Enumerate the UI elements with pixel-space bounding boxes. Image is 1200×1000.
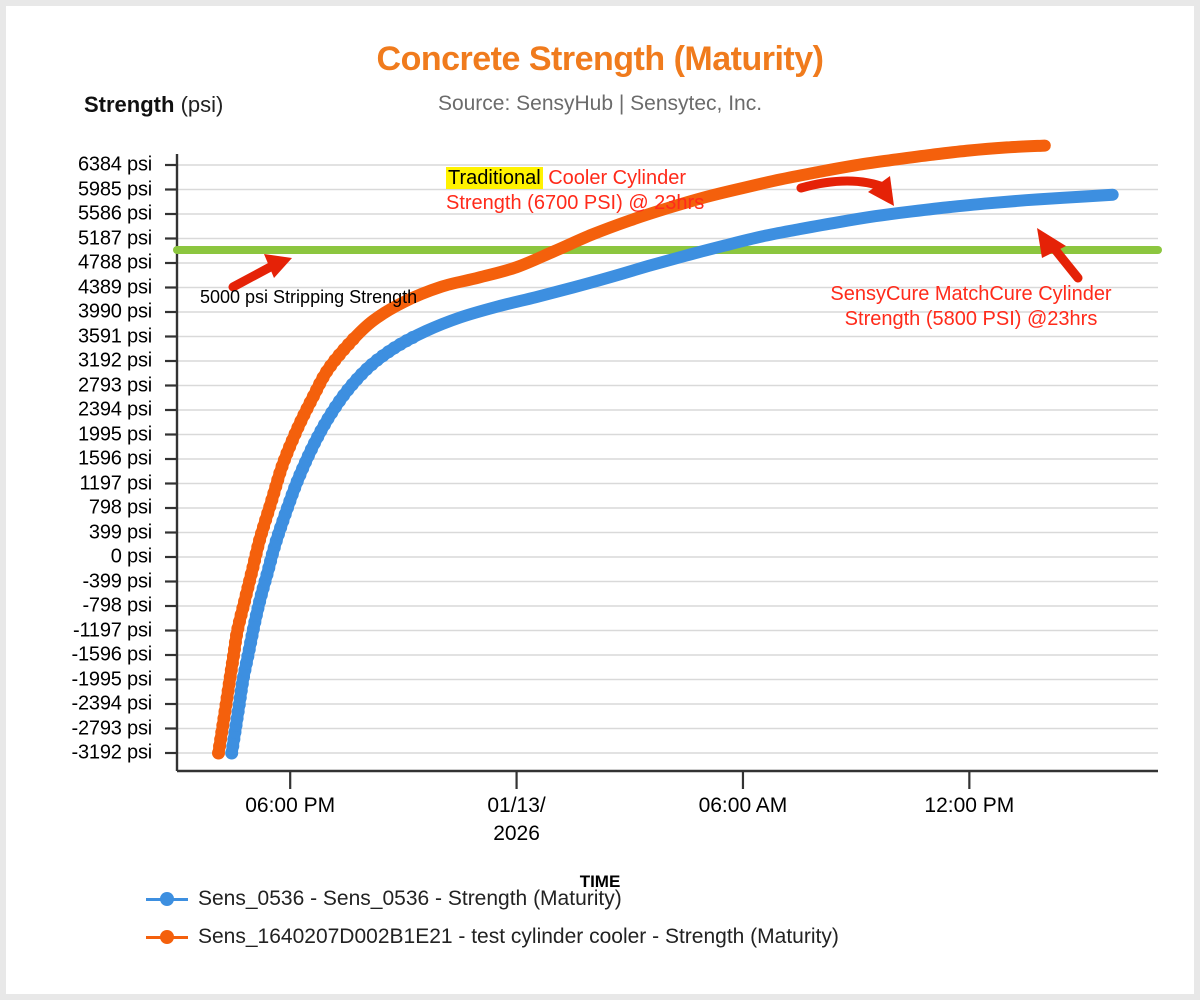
series-markers-sens-0536 bbox=[225, 331, 419, 760]
y-axis-tick-label: -2793 psi bbox=[0, 717, 152, 740]
gridlines bbox=[177, 165, 1158, 753]
y-axis-tick-label: -399 psi bbox=[0, 570, 152, 593]
y-axis-tick-label: 2793 psi bbox=[0, 374, 152, 397]
y-axis-tick-label: 2394 psi bbox=[0, 399, 152, 422]
y-axis-tick-label: 6384 psi bbox=[0, 154, 152, 177]
y-axis-tick-label: 5586 psi bbox=[0, 203, 152, 226]
chart-canvas: Concrete Strength (Maturity) Source: Sen… bbox=[6, 6, 1194, 994]
y-axis-tick-label: 4389 psi bbox=[0, 276, 152, 299]
annotation-traditional-highlight: Traditional bbox=[446, 167, 543, 189]
y-axis-tick-label: 399 psi bbox=[0, 521, 152, 544]
chart-title: Concrete Strength (Maturity) bbox=[6, 40, 1194, 79]
arrow-to-stripping-line bbox=[233, 254, 292, 287]
y-axis-tick-label: -1596 psi bbox=[0, 644, 152, 667]
legend-item-sens-0536[interactable]: Sens_0536 - Sens_0536 - Strength (Maturi… bbox=[146, 880, 839, 918]
y-axis-tick-label: -798 psi bbox=[0, 595, 152, 618]
x-axis-tick-label: 01/13/ 2026 bbox=[427, 792, 607, 848]
legend-dot bbox=[160, 892, 174, 906]
y-axis-tick-label: 3990 psi bbox=[0, 301, 152, 324]
series-line-sens-0536 bbox=[232, 195, 1113, 753]
x-axis-tick-label: 12:00 PM bbox=[879, 792, 1059, 820]
y-axis-tick-label: -2394 psi bbox=[0, 693, 152, 716]
annotation-cooler-cylinder: Traditional Cooler Cylinder Strength (67… bbox=[446, 166, 704, 216]
y-axis-tick-label: 5985 psi bbox=[0, 178, 152, 201]
y-axis-tick-label: 798 psi bbox=[0, 497, 152, 520]
y-axis-tick-label: 1995 psi bbox=[0, 423, 152, 446]
legend-marker-icon bbox=[146, 930, 188, 944]
arrow-to-cooler-curve bbox=[801, 176, 894, 206]
y-axis-tick-label: 3591 psi bbox=[0, 325, 152, 348]
series-line-cooler-cylinder bbox=[219, 146, 1045, 753]
legend-label: Sens_1640207D002B1E21 - test cylinder co… bbox=[198, 925, 839, 949]
y-axis-tick-label: -1197 psi bbox=[0, 619, 152, 642]
y-axis-tick-label: 1197 psi bbox=[0, 472, 152, 495]
y-axis-tick-label: 5187 psi bbox=[0, 227, 152, 250]
chart-legend: Sens_0536 - Sens_0536 - Strength (Maturi… bbox=[146, 880, 839, 956]
x-axis-tick-label: 06:00 AM bbox=[653, 792, 833, 820]
y-axis-title: Strength (psi) bbox=[84, 92, 223, 118]
y-axis-tick-label: 4788 psi bbox=[0, 252, 152, 275]
legend-marker-icon bbox=[146, 892, 188, 906]
y-axis-tick-label: 0 psi bbox=[0, 546, 152, 569]
series-markers-cooler-cylinder bbox=[212, 333, 360, 760]
x-axis-tick-label: 06:00 PM bbox=[200, 792, 380, 820]
legend-item-cooler-cylinder[interactable]: Sens_1640207D002B1E21 - test cylinder co… bbox=[146, 918, 839, 956]
y-axis-title-bold: Strength bbox=[84, 92, 174, 117]
y-axis-tick-label: 3192 psi bbox=[0, 350, 152, 373]
y-axis-title-unit: (psi) bbox=[174, 92, 223, 117]
annotation-matchcure-cylinder: SensyCure MatchCure Cylinder Strength (5… bbox=[796, 282, 1146, 332]
y-axis-ticks bbox=[165, 165, 177, 753]
x-axis-ticks bbox=[290, 771, 969, 789]
legend-dot bbox=[160, 930, 174, 944]
y-axis-tick-label: -1995 psi bbox=[0, 668, 152, 691]
y-axis-tick-label: -3192 psi bbox=[0, 742, 152, 765]
arrow-to-matchcure-curve bbox=[1037, 228, 1078, 278]
y-axis-tick-label: 1596 psi bbox=[0, 448, 152, 471]
annotation-stripping-strength: 5000 psi Stripping Strength bbox=[200, 287, 417, 308]
legend-label: Sens_0536 - Sens_0536 - Strength (Maturi… bbox=[198, 887, 622, 911]
